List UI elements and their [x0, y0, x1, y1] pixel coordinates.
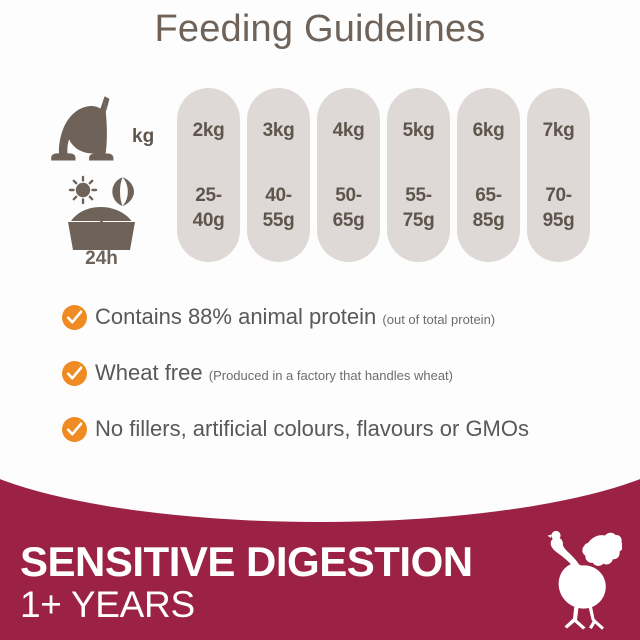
benefit-text-wrap: Wheat free (Produced in a factory that h… — [95, 358, 453, 391]
column-amount-line2: 75g — [387, 208, 450, 233]
banner-arc-shape — [0, 454, 640, 522]
feeding-bowl-icon: 24h 1/2 1/2 — [44, 174, 160, 266]
column-weight: 7kg — [527, 120, 590, 142]
column-amount-line1: 55- — [387, 183, 450, 208]
svg-text:1/2: 1/2 — [103, 229, 125, 246]
svg-text:24h: 24h — [85, 248, 118, 266]
column-amount-line2: 40g — [177, 208, 240, 233]
benefit-text-wrap: No fillers, artificial colours, flavours… — [95, 414, 529, 447]
column-weight: 6kg — [457, 120, 520, 142]
svg-text:1/2: 1/2 — [78, 229, 100, 246]
column-amount: 25- 40g — [177, 183, 240, 233]
weight-unit-label: kg — [132, 126, 154, 148]
feeding-table: kg — [0, 88, 640, 268]
benefit-note: (Produced in a factory that handles whea… — [209, 368, 453, 383]
check-circle-icon — [62, 361, 87, 386]
column-amount: 65- 85g — [457, 183, 520, 233]
column-amount-line1: 65- — [457, 183, 520, 208]
column-amount-line2: 95g — [527, 208, 590, 233]
benefit-label: Contains 88% animal protein — [95, 304, 376, 329]
column-amount-line1: 40- — [247, 183, 310, 208]
feeding-column: 2kg 25- 40g — [177, 88, 240, 262]
column-amount: 55- 75g — [387, 183, 450, 233]
check-circle-icon — [62, 417, 87, 442]
banner-subtitle: 1+ YEARS — [20, 585, 195, 625]
column-amount: 70- 95g — [527, 183, 590, 233]
column-amount: 40- 55g — [247, 183, 310, 233]
column-amount-line2: 55g — [247, 208, 310, 233]
column-amount-line2: 85g — [457, 208, 520, 233]
feeding-column: 6kg 65- 85g — [457, 88, 520, 262]
sun-icon-shape — [70, 177, 96, 203]
benefit-item: Contains 88% animal protein (out of tota… — [0, 296, 640, 352]
feeding-column: 5kg 55- 75g — [387, 88, 450, 262]
feeding-column: 3kg 40- 55g — [247, 88, 310, 262]
column-amount: 50- 65g — [317, 183, 380, 233]
banner-title: SENSITIVE DIGESTION — [20, 540, 473, 584]
cat-icon — [42, 90, 134, 168]
column-weight: 5kg — [387, 120, 450, 142]
benefit-item: Wheat free (Produced in a factory that h… — [0, 352, 640, 408]
benefit-label: Wheat free — [95, 360, 203, 385]
column-amount-line2: 65g — [317, 208, 380, 233]
benefit-text-wrap: Contains 88% animal protein (out of tota… — [95, 302, 495, 335]
column-weight: 2kg — [177, 120, 240, 142]
page-title: Feeding Guidelines — [0, 8, 640, 51]
column-weight: 4kg — [317, 120, 380, 142]
turkey-icon — [518, 529, 622, 633]
benefit-note: (out of total protein) — [382, 312, 495, 327]
column-amount-line1: 25- — [177, 183, 240, 208]
feeding-column: 4kg 50- 65g — [317, 88, 380, 262]
product-banner: SENSITIVE DIGESTION 1+ YEARS — [0, 454, 640, 640]
column-weight: 3kg — [247, 120, 310, 142]
feeding-guidelines-panel: Feeding Guidelines kg — [0, 0, 640, 640]
feeding-column: 7kg 70- 95g — [527, 88, 590, 262]
column-amount-line1: 70- — [527, 183, 590, 208]
feeding-table-icon-column: kg — [36, 88, 176, 268]
benefit-label: No fillers, artificial colours, flavours… — [95, 416, 529, 441]
benefits-list: Contains 88% animal protein (out of tota… — [0, 296, 640, 464]
column-amount-line1: 50- — [317, 183, 380, 208]
check-circle-icon — [62, 305, 87, 330]
